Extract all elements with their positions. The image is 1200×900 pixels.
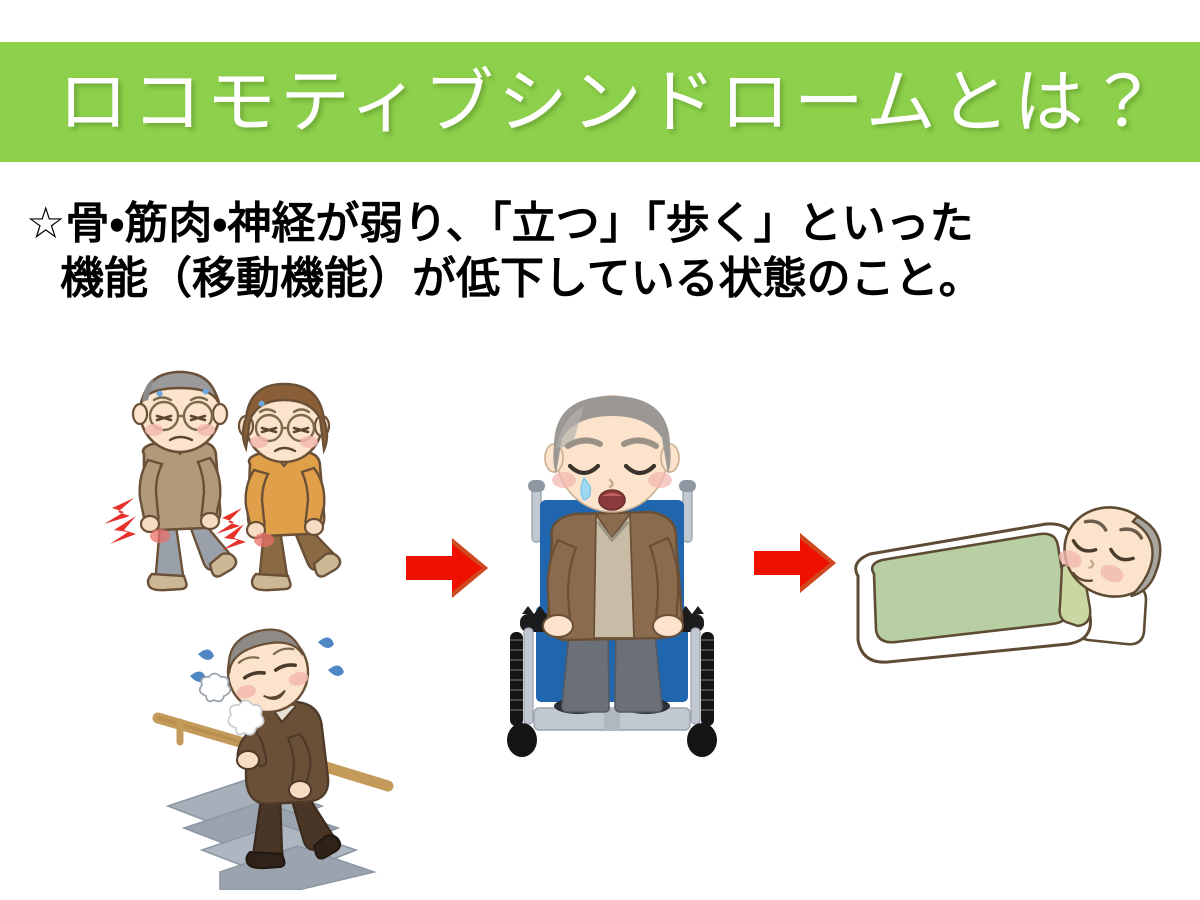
illustration-elderly-man-in-wheelchair bbox=[492, 388, 732, 768]
arrow-right-icon bbox=[400, 530, 492, 604]
flow-arrow-2-icon bbox=[748, 525, 840, 599]
slide-canvas: ロコモティブシンドロームとは？ ☆骨・筋肉・神経が弱り、「立つ」「歩く」といった… bbox=[0, 0, 1200, 900]
page-title: ロコモティブシンドロームとは？ bbox=[58, 67, 1162, 137]
body-statement: ☆骨・筋肉・神経が弱り、「立つ」「歩く」といった 機能（移動機能）が低下している… bbox=[26, 196, 1186, 307]
flow-arrow-1-icon bbox=[400, 530, 492, 604]
body-line-1: ☆骨・筋肉・神経が弱り、「立つ」「歩く」といった bbox=[26, 198, 974, 249]
stairs-man-svg bbox=[150, 610, 410, 890]
body-line-2: 機能（移動機能）が低下している状態のこと。 bbox=[26, 251, 1186, 306]
wheelchair-head bbox=[545, 396, 679, 512]
illustration-stage bbox=[0, 330, 1200, 900]
couple-man bbox=[104, 372, 236, 590]
arrow-right-icon bbox=[748, 525, 840, 599]
illustration-bedridden-elderly-person bbox=[840, 490, 1170, 700]
illustration-elderly-man-climbing-stairs bbox=[150, 610, 410, 890]
illustration-elderly-couple-knee-pain bbox=[52, 358, 352, 608]
couple-svg bbox=[52, 358, 352, 608]
wheelchair-svg bbox=[492, 388, 732, 768]
title-banner: ロコモティブシンドロームとは？ bbox=[0, 42, 1200, 162]
bed-svg bbox=[840, 490, 1170, 700]
